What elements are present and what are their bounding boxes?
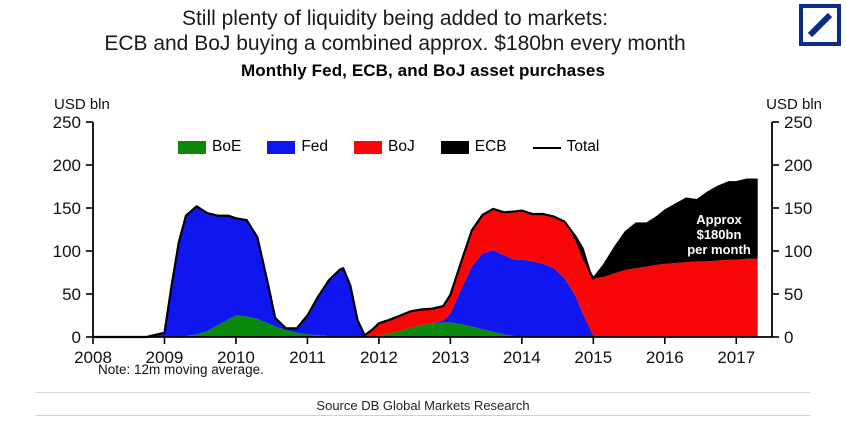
y-tick-label-left-0: 0 — [72, 328, 81, 347]
y-tick-label-right-150: 150 — [784, 199, 812, 218]
x-tick-label-2013: 2013 — [431, 348, 469, 367]
divider-bottom — [36, 415, 810, 416]
y-tick-label-right-100: 100 — [784, 242, 812, 261]
x-tick-label-2014: 2014 — [503, 348, 541, 367]
y-tick-label-right-250: 250 — [784, 113, 812, 132]
y-tick-label-right-200: 200 — [784, 156, 812, 175]
x-tick-label-2017: 2017 — [717, 348, 755, 367]
y-tick-label-left-250: 250 — [53, 113, 81, 132]
y-tick-label-left-50: 50 — [62, 285, 81, 304]
divider-top — [36, 392, 810, 393]
x-tick-label-2011: 2011 — [289, 348, 326, 367]
chart-note: Note: 12m moving average. — [98, 362, 264, 377]
x-tick-label-2012: 2012 — [360, 348, 398, 367]
y-tick-label-right-50: 50 — [784, 285, 803, 304]
y-tick-label-left-150: 150 — [53, 199, 81, 218]
chart-source: Source DB Global Markets Research — [0, 398, 846, 413]
stacked-area-chart: 0050501001001501502002002502502008200920… — [0, 0, 846, 424]
x-tick-label-2015: 2015 — [574, 348, 612, 367]
y-tick-label-left-100: 100 — [53, 242, 81, 261]
y-tick-label-right-0: 0 — [784, 328, 793, 347]
y-tick-label-left-200: 200 — [53, 156, 81, 175]
x-tick-label-2016: 2016 — [646, 348, 684, 367]
chart-page: Still plenty of liquidity being added to… — [0, 0, 846, 424]
